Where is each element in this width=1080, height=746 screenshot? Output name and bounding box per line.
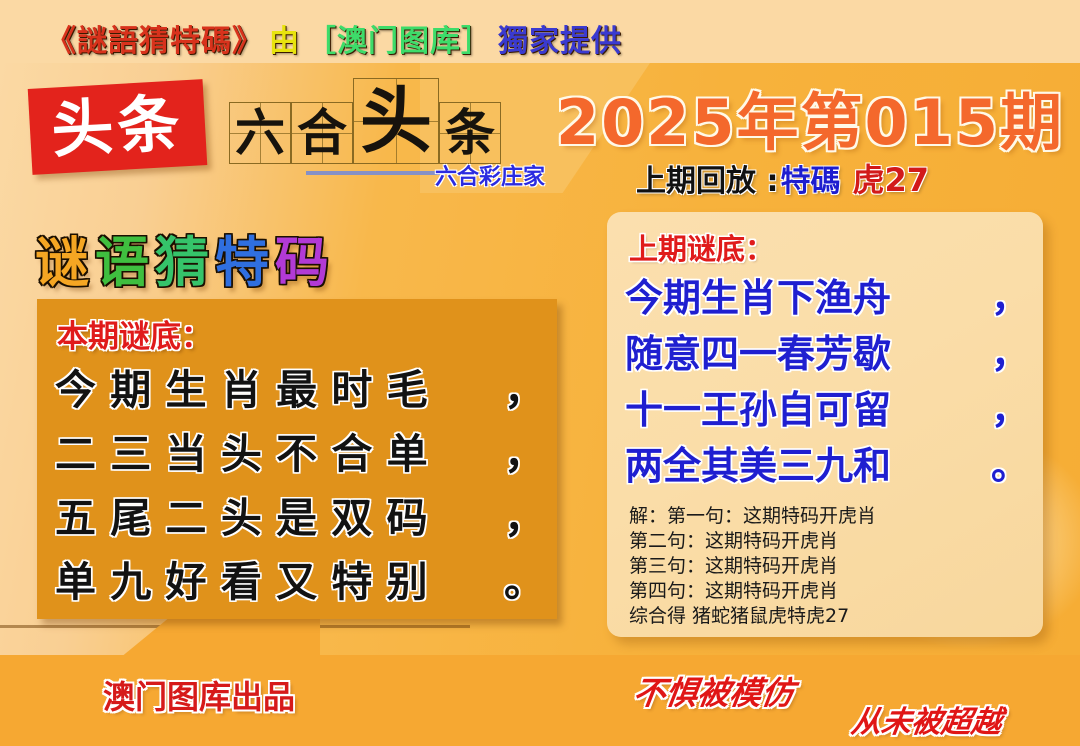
- recall-value: 虎27: [852, 155, 929, 201]
- footer-slogan-primary: 不惧被模仿: [631, 668, 797, 714]
- explanation-summary: 综合得 猪蛇猪鼠虎特虎27: [629, 604, 1029, 629]
- riddle-line-text: 今 期 生 肖 最 时 毛: [55, 356, 428, 416]
- explanation-line: 第四句：这期特码开虎肖: [629, 579, 1029, 604]
- brand-subtitle-rule: [306, 171, 441, 175]
- answer-line-punct: ，: [991, 267, 1029, 322]
- answer-explanation-list: 解：第一句：这期特码开虎肖 第二句：这期特码开虎肖 第三句：这期特码开虎肖 第四…: [629, 504, 1029, 629]
- explanation-line: 解：第一句：这期特码开虎肖: [629, 504, 1029, 529]
- riddle-line-punct: 。: [504, 548, 545, 608]
- explanation-line: 第三句：这期特码开虎肖: [629, 554, 1029, 579]
- rainbow-char: 码: [275, 236, 329, 290]
- riddle-line-text: 单 九 好 看 又 特 别: [55, 548, 428, 608]
- riddle-line-punct: ，: [504, 420, 545, 480]
- header-tagline: 《謎語猜特碼》 由 ［澳门图库］ 獨家提供: [46, 20, 622, 56]
- header-part-title: 《謎語猜特碼》: [46, 16, 263, 60]
- current-riddle-lines: 今 期 生 肖 最 时 毛 ， 二 三 当 头 不 合 单 ， 五 尾 二 头 …: [55, 354, 545, 610]
- brand-grid-cell: 合: [291, 102, 353, 164]
- brand-subtitle: 六合彩庄家: [435, 159, 545, 191]
- answer-line-text: 两全其美三九和: [625, 435, 891, 490]
- riddle-line-text: 五 尾 二 头 是 双 码: [55, 484, 428, 544]
- previous-answer-lines: 今期生肖下渔舟 ， 随意四一春芳歇 ， 十一王孙自可留 ， 两全其美三九和 。: [625, 266, 1029, 490]
- headline-badge-label: 头条: [50, 92, 185, 161]
- issue-title: 2025年第015期: [556, 72, 1064, 162]
- header-part-source: ［澳门图库］: [306, 16, 492, 60]
- riddle-line-punct: ，: [504, 484, 545, 544]
- riddle-line: 单 九 好 看 又 特 别 。: [55, 546, 545, 610]
- rainbow-char: 猜: [155, 236, 209, 290]
- rainbow-char: 语: [95, 236, 149, 290]
- recall-term: 特碼: [780, 156, 840, 200]
- answer-line-text: 今期生肖下渔舟: [625, 267, 891, 322]
- header-part-exclusive: 獨家提供: [498, 16, 622, 60]
- answer-line: 今期生肖下渔舟 ，: [625, 266, 1029, 322]
- current-riddle-card: 本期谜底： 今 期 生 肖 最 时 毛 ， 二 三 当 头 不 合 单 ， 五 …: [37, 299, 557, 619]
- brand-grid-char: 条: [445, 108, 495, 158]
- rainbow-char: 特: [215, 236, 269, 290]
- headline-badge: 头条: [28, 79, 208, 175]
- riddle-line: 今 期 生 肖 最 时 毛 ，: [55, 354, 545, 418]
- brand-grid-cell: 条: [439, 102, 501, 164]
- explanation-line: 第二句：这期特码开虎肖: [629, 529, 1029, 554]
- brand-character-grid: 六 合 头 条: [229, 78, 501, 164]
- riddle-line-text: 二 三 当 头 不 合 单: [55, 420, 428, 480]
- previous-draw-recall: 上期回放 : 特碼 虎27: [636, 155, 929, 201]
- previous-answer-heading: 上期谜底：: [629, 226, 774, 268]
- answer-line-punct: ，: [991, 323, 1029, 378]
- brand-grid-char: 合: [297, 108, 347, 158]
- riddle-line: 二 三 当 头 不 合 单 ，: [55, 418, 545, 482]
- rainbow-char: 谜: [35, 236, 89, 290]
- footer-slogan-secondary: 从未被超越: [849, 697, 1005, 741]
- answer-line-text: 随意四一春芳歇: [625, 323, 891, 378]
- brand-grid-cell: 六: [229, 102, 291, 164]
- brand-grid-char: 头: [360, 85, 432, 157]
- previous-answer-card: 上期谜底： 今期生肖下渔舟 ， 随意四一春芳歇 ， 十一王孙自可留 ， 两全其美…: [607, 212, 1043, 637]
- footer-publisher: 澳门图库出品: [103, 672, 295, 718]
- current-riddle-heading: 本期谜底：: [57, 311, 212, 356]
- rainbow-section-title: 谜 语 猜 特 码: [35, 236, 329, 290]
- answer-line-punct: 。: [991, 435, 1029, 490]
- header-part-by: 由: [269, 16, 300, 60]
- answer-line: 两全其美三九和 。: [625, 434, 1029, 490]
- riddle-line: 五 尾 二 头 是 双 码 ，: [55, 482, 545, 546]
- brand-grid-char: 六: [235, 108, 285, 158]
- riddle-line-punct: ，: [504, 356, 545, 416]
- poster-canvas: 《謎語猜特碼》 由 ［澳门图库］ 獨家提供 头条 六 合 头 条 六合彩庄家 2…: [0, 0, 1080, 746]
- brand-grid-cell-large: 头: [353, 78, 439, 164]
- answer-line: 十一王孙自可留 ，: [625, 378, 1029, 434]
- answer-line-punct: ，: [991, 379, 1029, 434]
- recall-label: 上期回放 :: [636, 156, 778, 200]
- answer-line: 随意四一春芳歇 ，: [625, 322, 1029, 378]
- answer-line-text: 十一王孙自可留: [625, 379, 891, 434]
